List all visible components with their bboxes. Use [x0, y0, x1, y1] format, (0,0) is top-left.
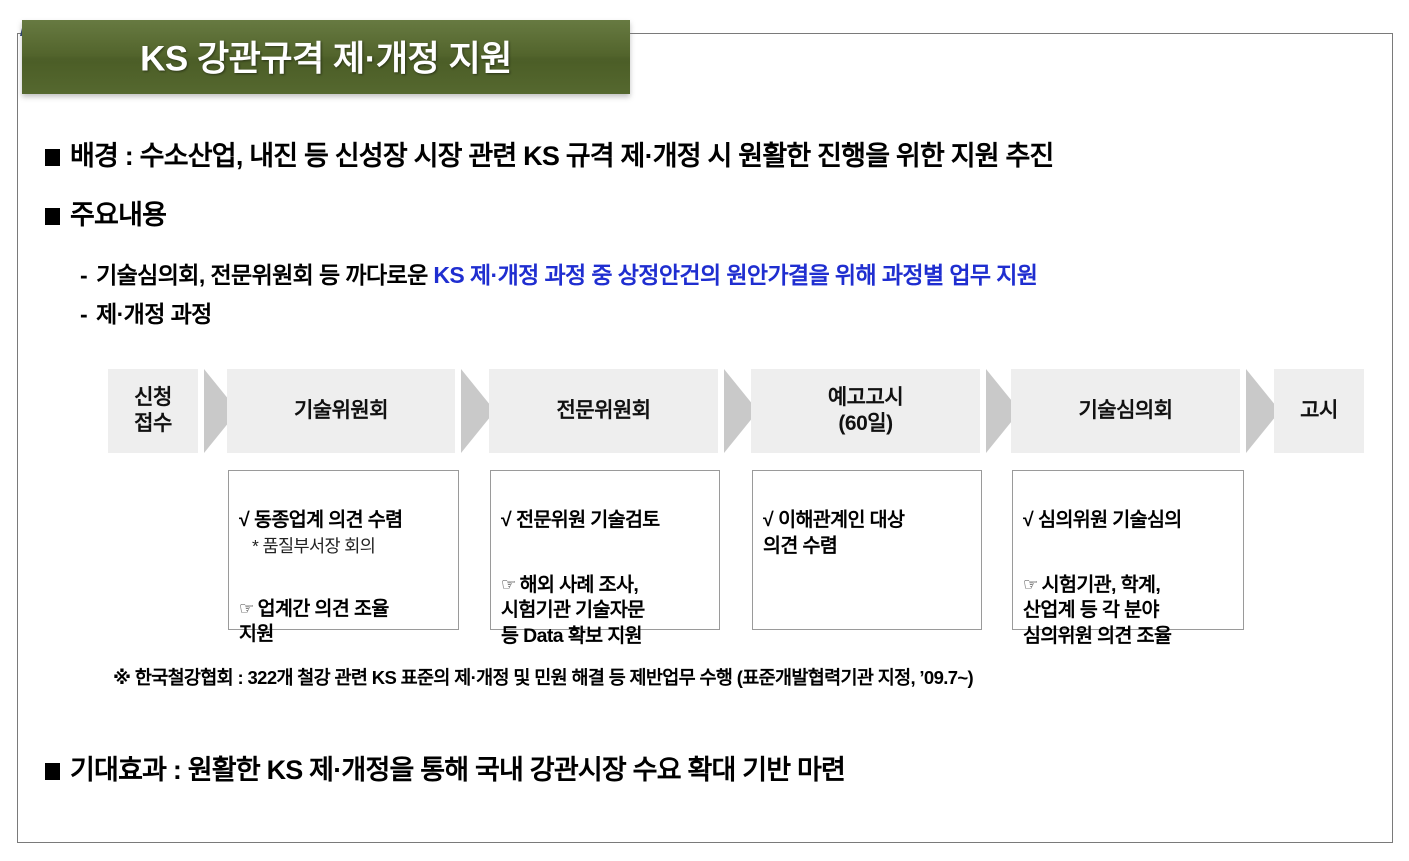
footnote: ※ 한국철강협회 : 322개 철강 관련 KS 표준의 제·개정 및 민원 해… [113, 664, 973, 690]
square-bullet-icon [45, 149, 60, 166]
detail-check-text: 이해관계인 대상 의견 수렴 [763, 509, 904, 556]
detail-check-row: √동종업계 의견 수렴 [239, 483, 450, 534]
flow-step-1[interactable]: 신청 접수 [108, 369, 198, 453]
process-flow: 신청 접수 기술위원회 전문위원회 예고고시 (60일) 기술심의회 고시 [108, 369, 1364, 453]
title-banner: KS 강관규격 제·개정 지원 [22, 20, 630, 94]
dash-bullet-icon: - [80, 262, 87, 288]
detail-check-text: 전문위원 기술검토 [516, 509, 660, 531]
detail-box-2: √전문위원 기술검토 ☞해외 사례 조사, 시험기관 기술자문 등 Data 확… [490, 470, 720, 630]
slide-canvas: KS 강관규격 제·개정 지원 배경 : 수소산업, 내진 등 신성장 시장 관… [0, 0, 1409, 861]
expected-effect-heading: 기대효과 : 원활한 KS 제·개정을 통해 국내 강관시장 수요 확대 기반 … [45, 748, 845, 787]
page-title: KS 강관규격 제·개정 지원 [22, 30, 630, 81]
pointing-hand-icon: ☞ [239, 599, 254, 618]
check-mark-icon: √ [1023, 509, 1033, 531]
detail-check-row: √이해관계인 대상 의견 수렴 [763, 483, 973, 559]
check-mark-icon: √ [763, 509, 773, 531]
sub-bullet-2-text: 제·개정 과정 [96, 301, 212, 327]
sub-bullet-1-blue: KS 제·개정 과정 중 상정안건의 원안가결을 위해 과정별 업무 지원 [433, 262, 1037, 288]
detail-note: * 품질부서장 회의 [239, 535, 450, 558]
check-mark-icon: √ [239, 509, 249, 531]
square-bullet-icon [45, 208, 60, 225]
detail-hand-row: ☞해외 사례 조사, 시험기관 기술자문 등 Data 확보 지원 [501, 548, 711, 649]
detail-box-3: √이해관계인 대상 의견 수렴 [752, 470, 982, 630]
sub-bullet-1: -기술심의회, 전문위원회 등 까다로운 KS 제·개정 과정 중 상정안건의 … [80, 256, 1037, 290]
detail-box-4: √심의위원 기술심의 ☞시험기관, 학계, 산업계 등 각 분야 심의위원 의견… [1012, 470, 1244, 630]
detail-check-row: √전문위원 기술검토 [501, 483, 711, 534]
flow-step-4[interactable]: 예고고시 (60일) [751, 369, 980, 453]
flow-step-6[interactable]: 고시 [1274, 369, 1364, 453]
detail-hand-text: 업계간 의견 조율 지원 [239, 598, 389, 645]
dash-bullet-icon: - [80, 301, 87, 327]
main-content-text: 주요내용 [70, 200, 166, 230]
background-heading: 배경 : 수소산업, 내진 등 신성장 시장 관련 KS 규격 제·개정 시 원… [45, 134, 1054, 173]
detail-hand-row: ☞시험기관, 학계, 산업계 등 각 분야 심의위원 의견 조율 [1023, 548, 1235, 649]
main-content-heading: 주요내용 [45, 193, 166, 232]
check-mark-icon: √ [501, 509, 511, 531]
expected-effect-text: 기대효과 : 원활한 KS 제·개정을 통해 국내 강관시장 수요 확대 기반 … [70, 755, 845, 785]
detail-box-1: √동종업계 의견 수렴 * 품질부서장 회의 ☞업계간 의견 조율 지원 [228, 470, 459, 630]
detail-hand-text: 해외 사례 조사, 시험기관 기술자문 등 Data 확보 지원 [501, 574, 645, 647]
detail-check-text: 동종업계 의견 수렴 [254, 509, 402, 531]
square-bullet-icon [45, 763, 60, 780]
detail-check-text: 심의위원 기술심의 [1038, 509, 1182, 531]
flow-step-3[interactable]: 전문위원회 [489, 369, 718, 453]
sub-bullet-2: -제·개정 과정 [80, 295, 212, 329]
background-text: 배경 : 수소산업, 내진 등 신성장 시장 관련 KS 규격 제·개정 시 원… [70, 141, 1054, 171]
sub-bullet-1-black: 기술심의회, 전문위원회 등 까다로운 [96, 262, 433, 288]
pointing-hand-icon: ☞ [501, 575, 516, 594]
flow-step-5[interactable]: 기술심의회 [1011, 369, 1240, 453]
detail-check-row: √심의위원 기술심의 [1023, 483, 1235, 534]
flow-step-2[interactable]: 기술위원회 [227, 369, 455, 453]
pointing-hand-icon: ☞ [1023, 575, 1038, 594]
detail-hand-row: ☞업계간 의견 조율 지원 [239, 571, 450, 647]
detail-hand-text: 시험기관, 학계, 산업계 등 각 분야 심의위원 의견 조율 [1023, 574, 1171, 647]
